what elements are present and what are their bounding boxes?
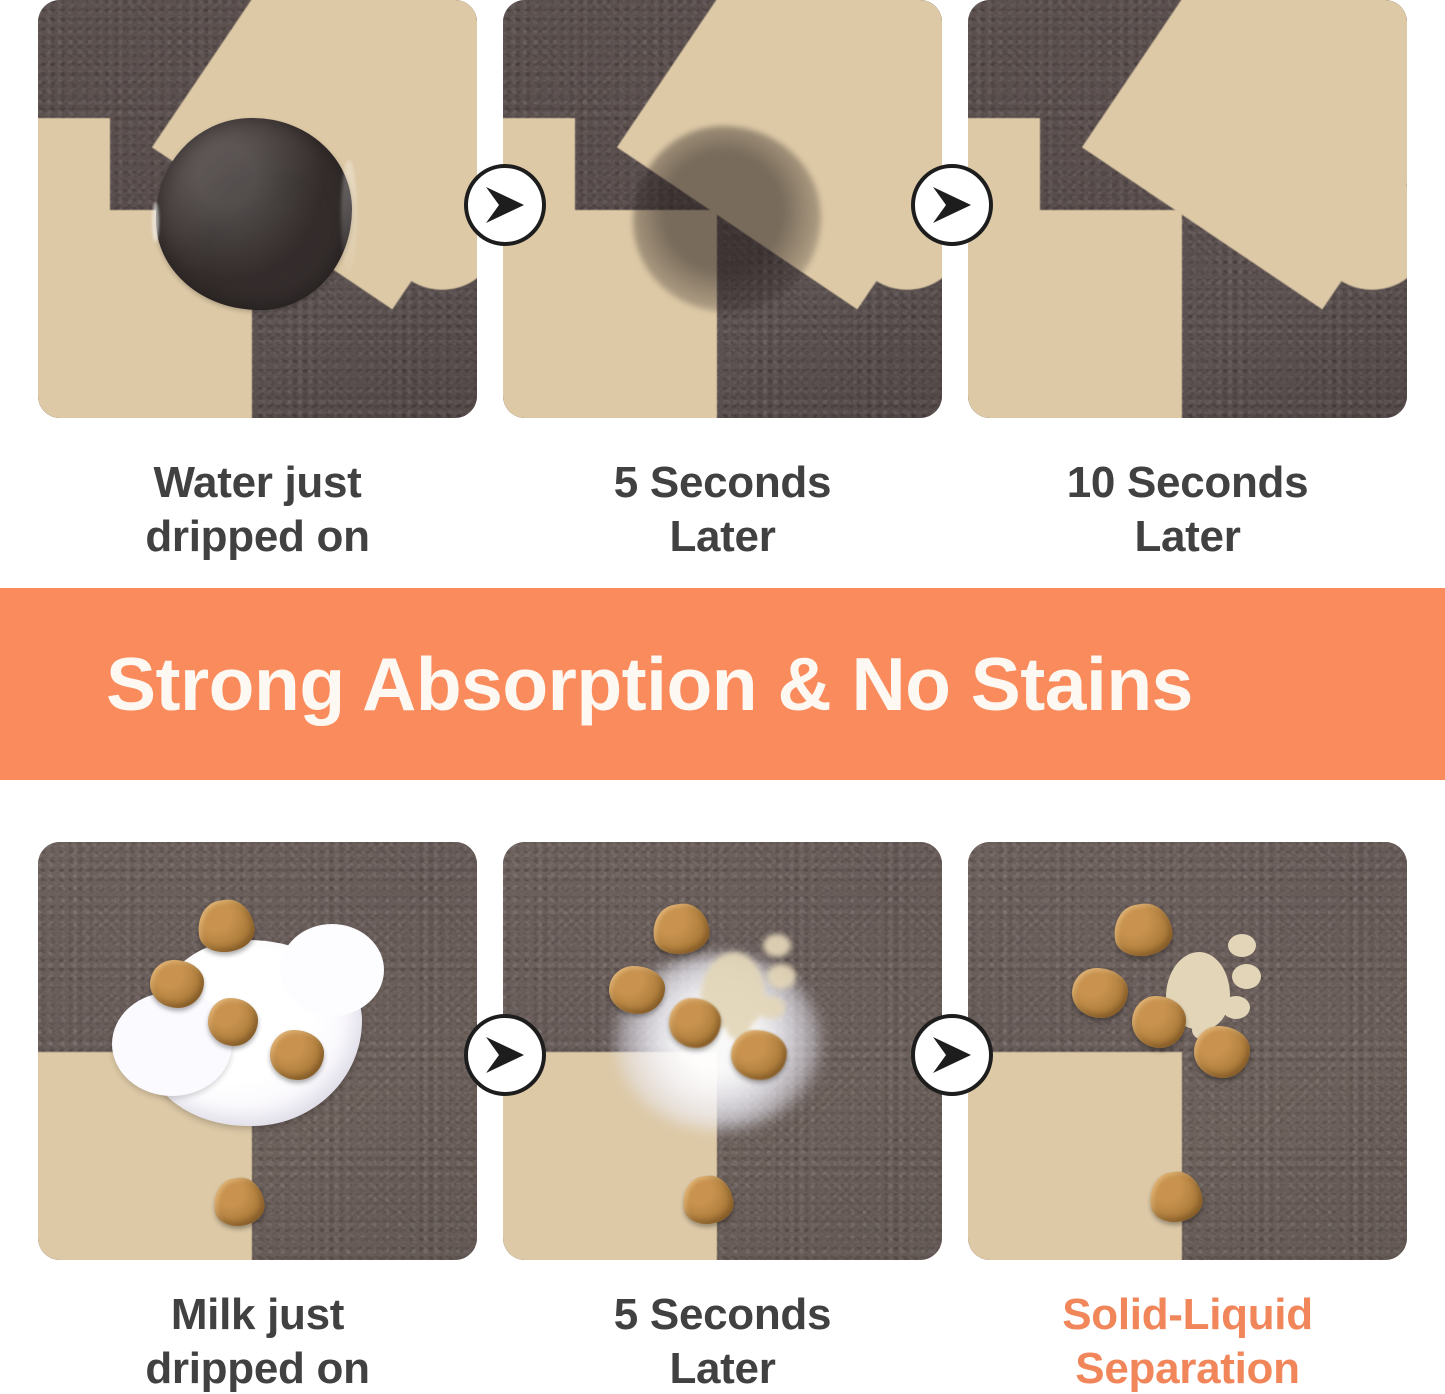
water-panel-2 [503,0,942,418]
infographic-page: Water just dripped on 5 Seconds Later 10… [0,0,1445,1394]
water-test-caption-row: Water just dripped on 5 Seconds Later 10… [38,456,1407,564]
bone-pattern-bottom-left [968,210,1182,418]
milk-panel-2 [503,842,942,1260]
caption-water-just-dripped-on: Water just dripped on [38,456,477,564]
caption-milk-just-dripped-on: Milk just dripped on [38,1288,477,1394]
milk-panel-3 [968,842,1407,1260]
kibble-piece [150,960,204,1008]
water-panel-1 [38,0,477,418]
kibble-piece [669,998,721,1048]
kibble-piece [731,1030,787,1080]
kibble-piece [208,998,258,1046]
caption-water-10-seconds-later: 10 Seconds Later [968,456,1407,564]
kibble-piece [609,966,665,1014]
kibble-piece [270,1030,324,1080]
milk-test-photo-row [38,842,1407,1260]
milk-test-caption-row: Milk just dripped on 5 Seconds Later Sol… [38,1288,1407,1394]
kibble-piece [1072,968,1128,1018]
water-puddle [156,118,352,310]
arrow-right-icon [911,1014,993,1096]
caption-water-5-seconds-later: 5 Seconds Later [503,456,942,564]
damp-spot [633,126,821,312]
arrow-right-icon [464,164,546,246]
headline-banner: Strong Absorption & No Stains [0,588,1445,780]
milk-panel-1 [38,842,477,1260]
water-test-photo-row [38,0,1407,418]
kibble-piece [1132,996,1186,1048]
bone-pattern-bottom-left [968,1052,1182,1260]
kibble-piece [1194,1026,1250,1078]
arrow-right-icon [464,1014,546,1096]
headline-text: Strong Absorption & No Stains [0,647,1193,722]
water-panel-3 [968,0,1407,418]
caption-milk-5-seconds-later: 5 Seconds Later [503,1288,942,1394]
arrow-right-icon [911,164,993,246]
caption-solid-liquid-separation: Solid-Liquid Separation [968,1288,1407,1394]
